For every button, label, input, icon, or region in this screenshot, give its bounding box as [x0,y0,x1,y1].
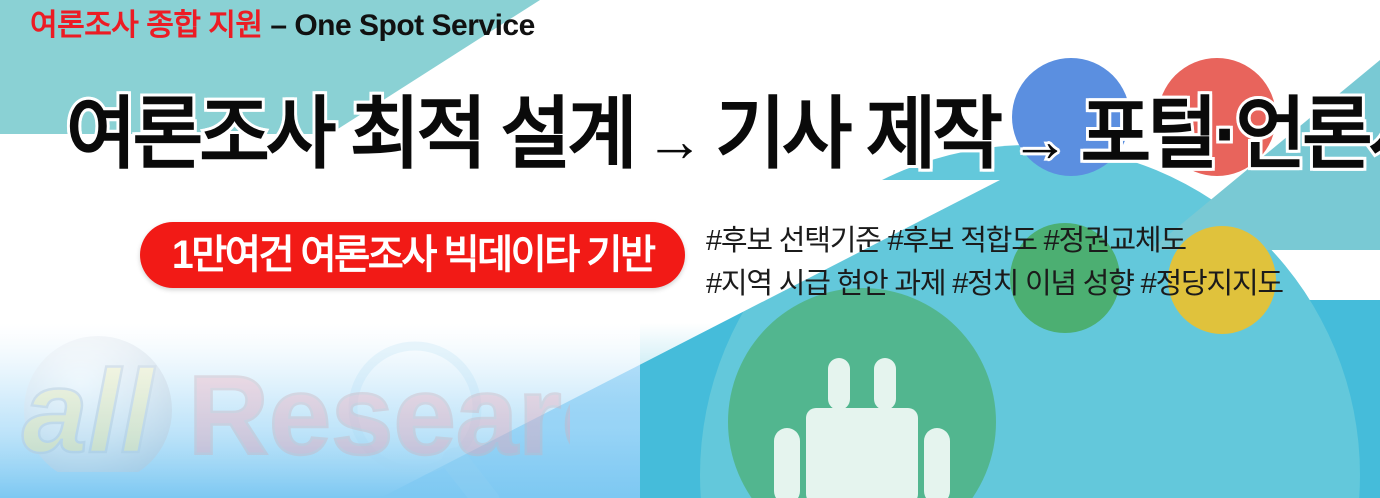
logo-text-all: all [22,346,155,472]
arrow-right-icon-2: → [999,107,1080,174]
hashtag-line-1: #후보 선택기준 #후보 적합도 #정권교체도 [706,220,1346,263]
eyebrow-english-text: One Spot Service [294,9,534,42]
eyebrow-tagline: 여론조사 종합 지원 – One Spot Service [30,6,535,46]
android-robot-icon [728,288,996,498]
headline-step-1: 여론조사 최적 설계 [66,89,634,178]
all-research-logo-watermark: all Research [10,332,570,472]
bigdata-badge: 1만여건 여론조사 빅데이타 기반 [140,222,685,288]
promo-banner: all Research 여론조사 종합 지원 – One Spot Servi… [0,0,1380,498]
bigdata-badge-label: 1만여건 여론조사 빅데이타 기반 [172,232,654,278]
headline-step-3: 포털·언론사 보도 [1081,89,1380,178]
eyebrow-korean-text: 여론조사 종합 지원 [30,9,262,42]
hashtag-list: #후보 선택기준 #후보 적합도 #정권교체도 #지역 시급 현안 과제 #정치… [706,220,1346,306]
hashtag-line-2: #지역 시급 현안 과제 #정치 이념 성향 #정당지지도 [706,263,1346,306]
headline-process-flow: 여론조사 최적 설계→기사 제작→포털·언론사 보도 [66,82,1317,193]
eyebrow-dash: – [262,9,294,42]
headline-step-2: 기사 제작 [715,89,999,178]
logo-text-research: Research [188,353,570,472]
arrow-right-icon-1: → [634,107,715,174]
